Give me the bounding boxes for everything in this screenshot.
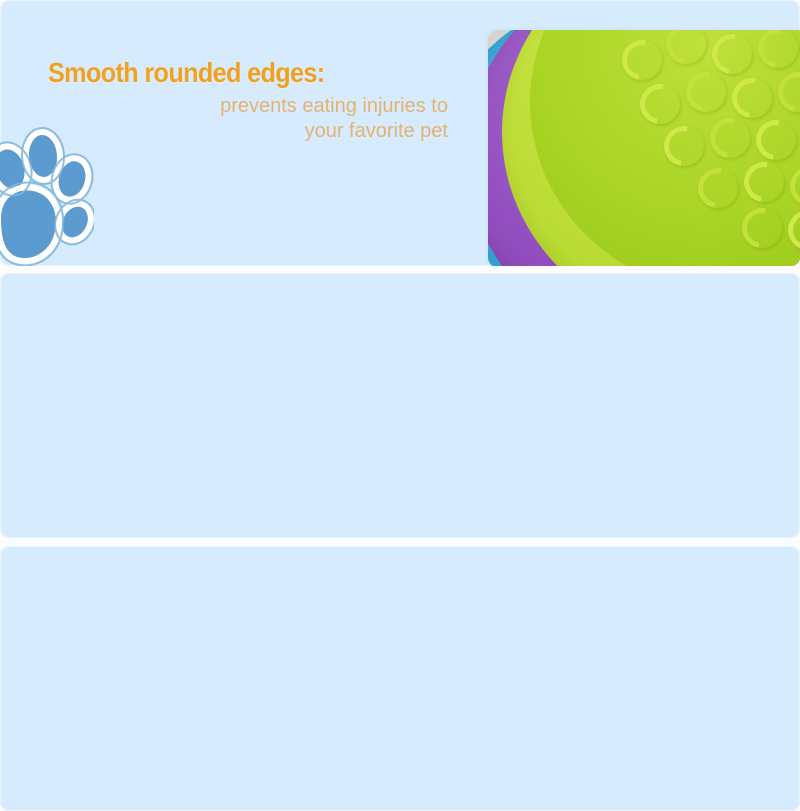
panel-1-headline: Smooth rounded edges: — [48, 58, 408, 87]
panel-1-product-photo — [488, 30, 800, 266]
infographic-sheet: Smooth rounded edges: prevents eating in… — [0, 0, 800, 811]
feature-panel-smooth-rounded-edges: Smooth rounded edges: prevents eating in… — [0, 0, 800, 266]
paw-print-icon — [0, 127, 94, 266]
panel-border — [0, 546, 800, 811]
panel-border — [0, 273, 800, 538]
feature-panel-detachable-assembly: Detachable assembly: Convenient for you … — [0, 546, 800, 811]
feature-panel-non-slip-bottom-design: Non-slip bottom design: rubberized non-s… — [0, 273, 800, 538]
panel-1-text-block: Smooth rounded edges: prevents eating in… — [48, 58, 448, 143]
panel-1-body-text: prevents eating injuries to your favorit… — [48, 94, 448, 143]
